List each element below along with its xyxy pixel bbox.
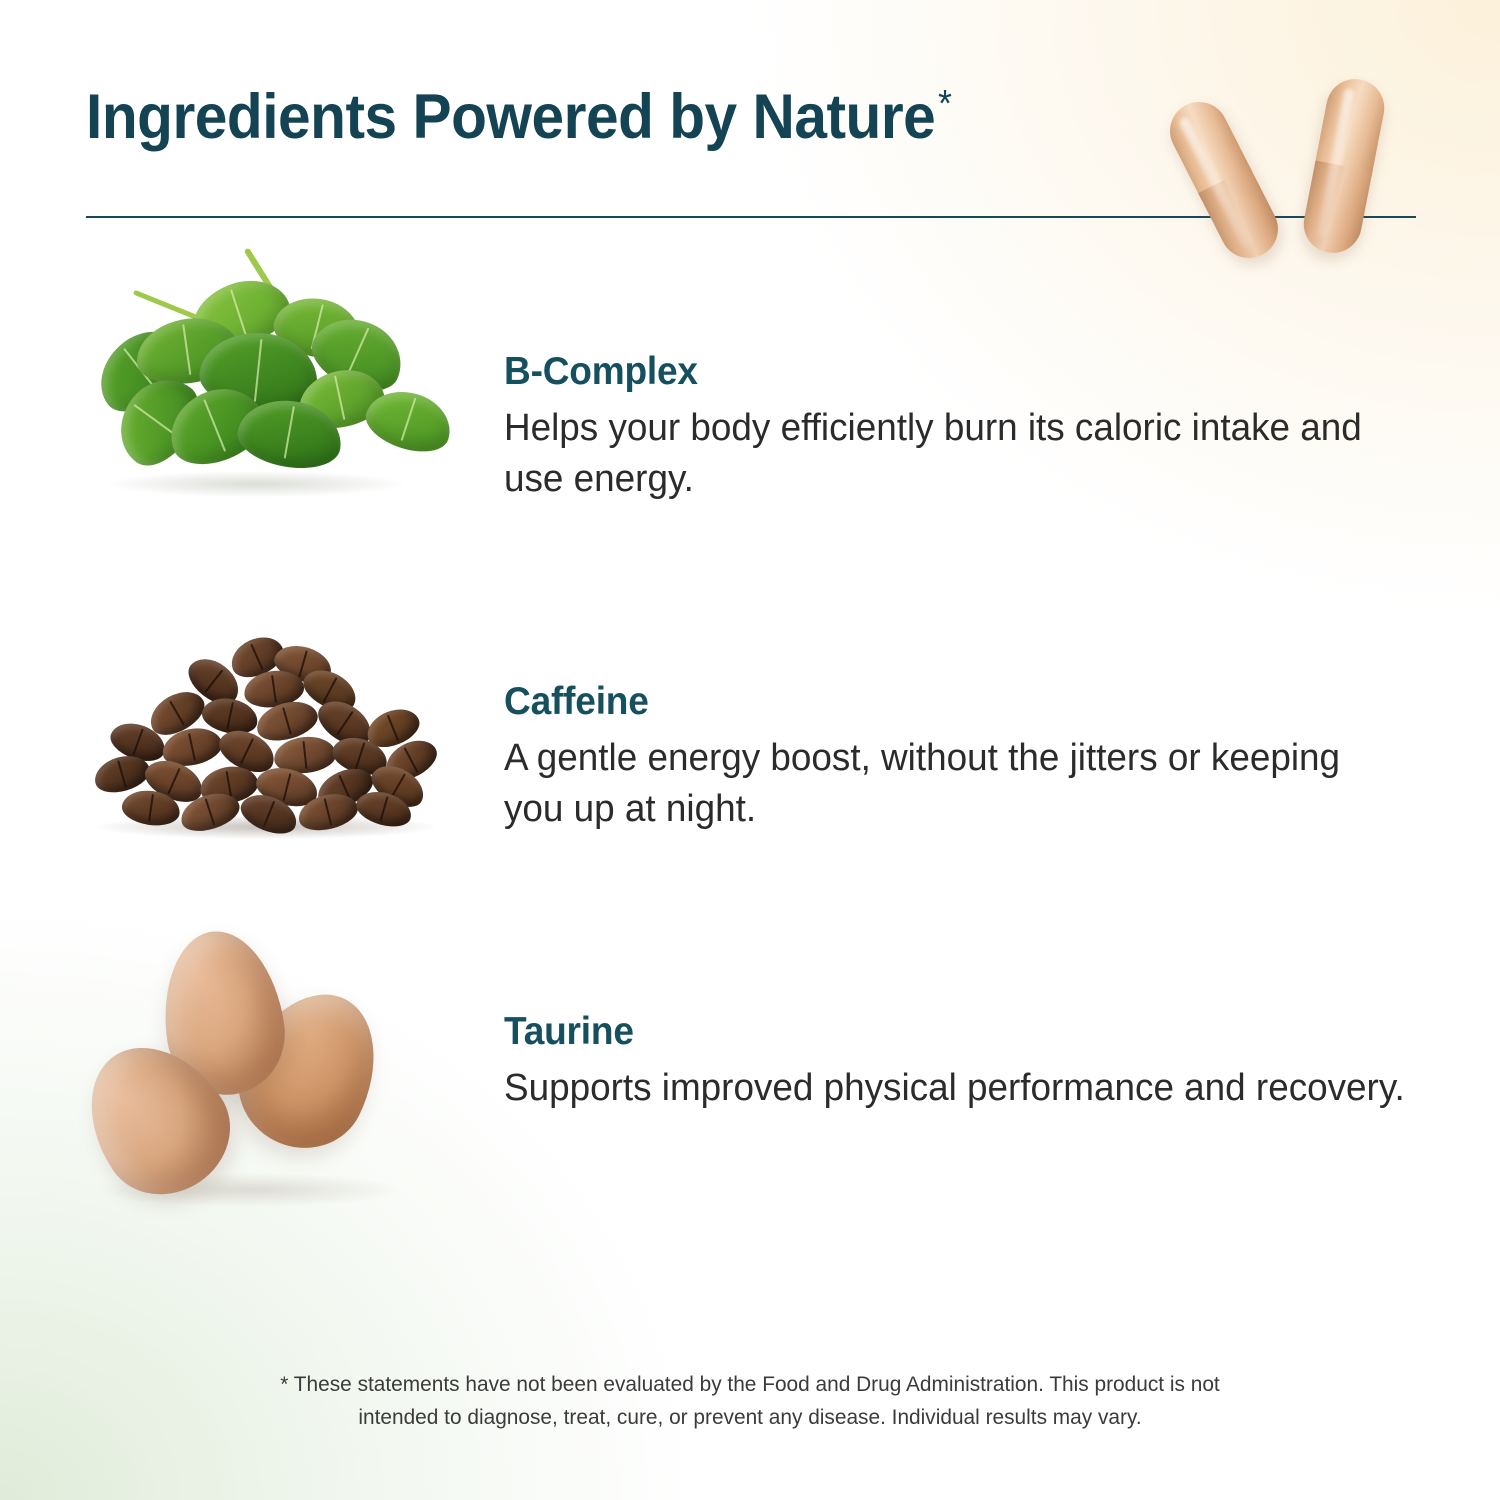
capsule-right-icon bbox=[1299, 74, 1390, 258]
coffee-beans-icon bbox=[78, 633, 478, 853]
ingredient-row-caffeine: Caffeine A gentle energy boost, without … bbox=[0, 585, 1500, 915]
ingredient-text-b-complex: B-Complex Helps your body efficiently bu… bbox=[504, 350, 1434, 504]
ingredient-description: Helps your body efficiently burn its cal… bbox=[504, 403, 1406, 504]
ingredient-image-b-complex bbox=[78, 255, 478, 585]
ingredient-text-taurine: Taurine Supports improved physical perfo… bbox=[504, 1010, 1434, 1114]
ingredient-image-taurine bbox=[78, 915, 478, 1245]
ingredient-name: Caffeine bbox=[504, 680, 1388, 724]
header: Ingredients Powered by Nature* bbox=[0, 0, 1500, 255]
coffee-beans-shadow bbox=[96, 815, 436, 839]
ingredient-description: A gentle energy boost, without the jitte… bbox=[504, 733, 1406, 834]
capsule-pair-icon bbox=[1195, 72, 1430, 272]
spinach-shadow bbox=[106, 471, 406, 497]
ingredient-row-b-complex: B-Complex Helps your body efficiently bu… bbox=[0, 255, 1500, 585]
brown-eggs-icon bbox=[78, 925, 478, 1225]
ingredient-image-caffeine bbox=[78, 585, 478, 915]
ingredient-name: Taurine bbox=[504, 1010, 1388, 1054]
capsule-left-icon bbox=[1160, 92, 1288, 268]
ingredient-text-caffeine: Caffeine A gentle energy boost, without … bbox=[504, 680, 1434, 834]
disclaimer-line-2: intended to diagnose, treat, cure, or pr… bbox=[23, 1401, 1478, 1434]
page-title: Ingredients Powered by Nature* bbox=[86, 86, 951, 149]
spinach-leaves-icon bbox=[78, 275, 478, 505]
ingredient-description: Supports improved physical performance a… bbox=[504, 1063, 1406, 1114]
disclaimer-line-1: * These statements have not been evaluat… bbox=[23, 1368, 1478, 1401]
page-title-text: Ingredients Powered by Nature bbox=[86, 82, 935, 152]
ingredient-name: B-Complex bbox=[504, 350, 1388, 394]
page-title-asterisk: * bbox=[938, 83, 951, 125]
ingredients-infographic: Ingredients Powered by Nature* bbox=[0, 0, 1500, 1500]
disclaimer: * These statements have not been evaluat… bbox=[23, 1368, 1478, 1433]
ingredient-row-taurine: Taurine Supports improved physical perfo… bbox=[0, 915, 1500, 1245]
